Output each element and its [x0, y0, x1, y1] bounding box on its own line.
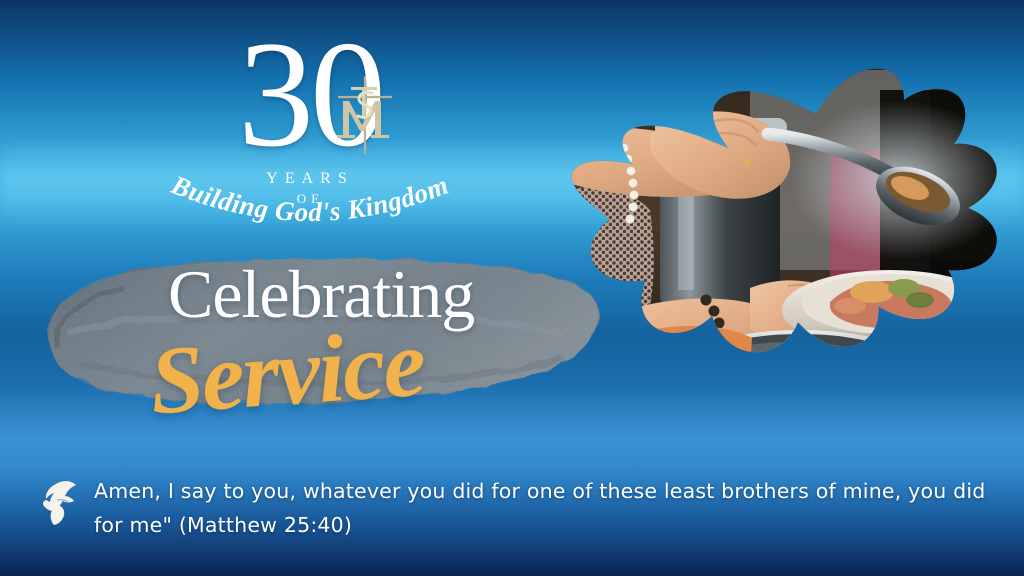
scripture-quote: Amen, I say to you, whatever you did for… — [38, 474, 1018, 542]
tagline-text: Building God's Kingdom — [166, 169, 452, 227]
slide-canvas: 30 — [0, 0, 1024, 576]
anniversary-logo: 30 — [150, 18, 470, 218]
scripture-text: Amen, I say to you, whatever you did for… — [94, 474, 1018, 542]
scripture-line1: Amen, I say to you, whatever you did for… — [94, 479, 901, 503]
headline-line2: Service — [147, 313, 427, 432]
dove-icon — [38, 478, 80, 526]
cross-monogram-icon — [329, 73, 401, 157]
tagline-arc: Building God's Kingdom — [130, 158, 490, 248]
